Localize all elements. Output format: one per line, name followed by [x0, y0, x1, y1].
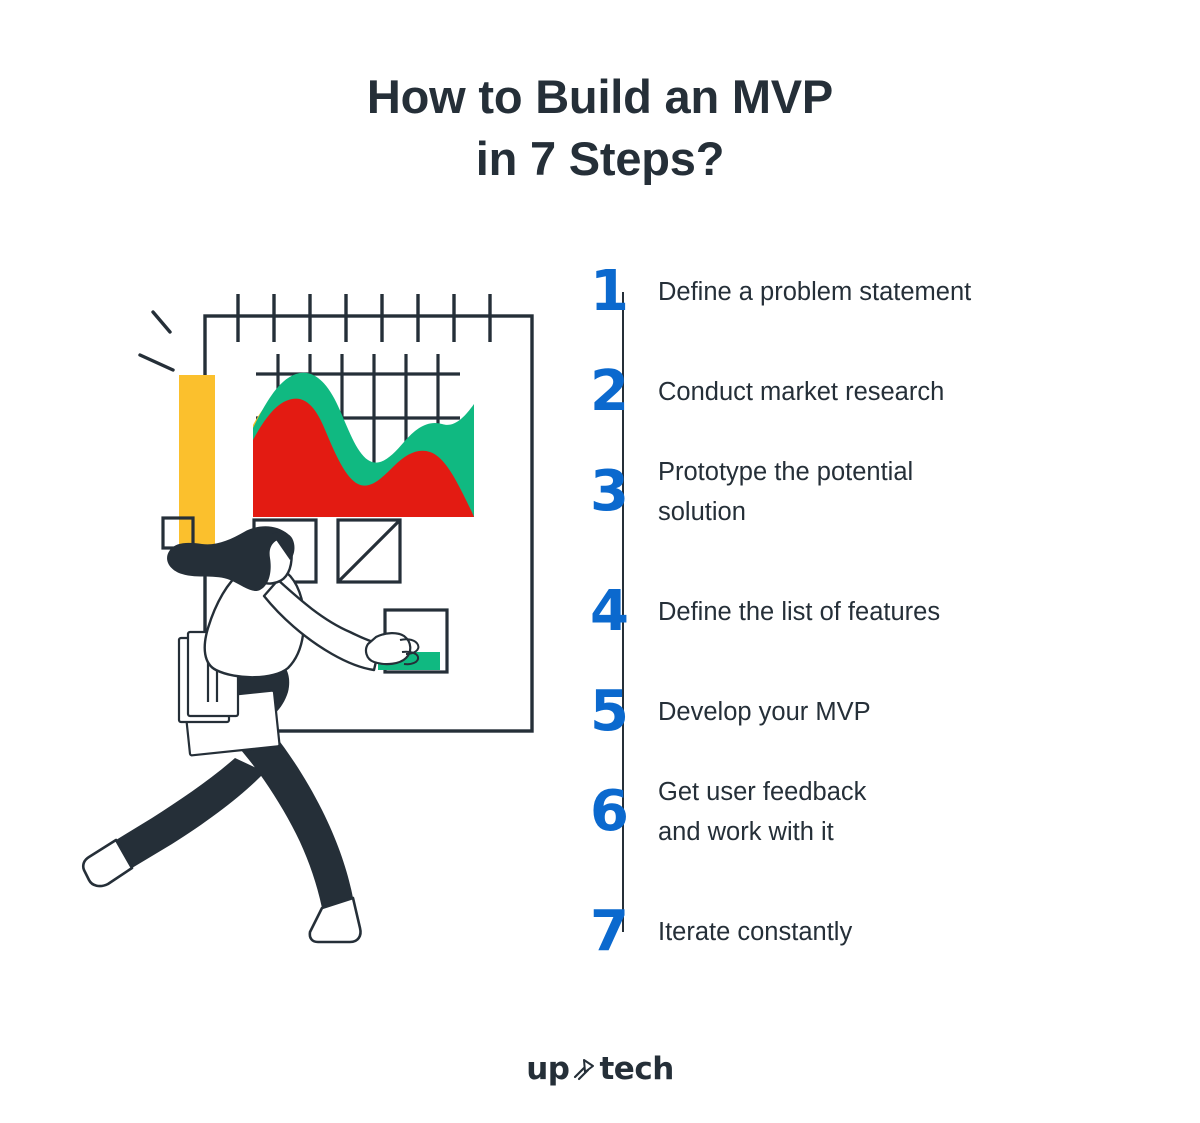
infographic-page: How to Build an MVP in 7 Steps?: [0, 0, 1200, 1123]
walking-person: [83, 526, 418, 942]
illustration-person-whiteboard: [60, 280, 580, 970]
step-item-1[interactable]: 1 Define a problem statement: [590, 264, 1150, 320]
step-label-1: Define a problem statement: [658, 272, 971, 312]
step-item-5[interactable]: 5 Develop your MVP: [590, 684, 1150, 740]
person-shoe-front: [310, 898, 361, 942]
person-leg-back: [116, 758, 265, 868]
logo-text-tech: tech: [599, 1052, 673, 1086]
step-label-2: Conduct market research: [658, 372, 944, 412]
motion-lines-icon: [140, 312, 173, 370]
step-item-3[interactable]: 3 Prototype the potential solution: [590, 452, 1150, 532]
step-number-6: 6: [590, 784, 658, 840]
logo-text-up: up: [526, 1052, 569, 1086]
step-item-2[interactable]: 2 Conduct market research: [590, 364, 1150, 420]
step-label-4: Define the list of features: [658, 592, 940, 632]
step-item-6[interactable]: 6 Get user feedback and work with it: [590, 772, 1150, 852]
step-label-7: Iterate constantly: [658, 912, 852, 952]
page-title-line-1: How to Build an MVP: [0, 66, 1200, 128]
step-item-7[interactable]: 7 Iterate constantly: [590, 904, 1150, 960]
steps-list: 1 Define a problem statement 2 Conduct m…: [590, 252, 1150, 962]
step-item-4[interactable]: 4 Define the list of features: [590, 584, 1150, 640]
top-tick-marks-icon: [238, 294, 490, 342]
step-number-1: 1: [590, 264, 658, 320]
square-diagonal: [338, 520, 400, 582]
step-label-5: Develop your MVP: [658, 692, 871, 732]
arrow-mark-icon: [571, 1055, 597, 1085]
page-title-line-2: in 7 Steps?: [0, 128, 1200, 190]
step-number-7: 7: [590, 904, 658, 960]
brand-logo[interactable]: up tech: [0, 1052, 1200, 1086]
step-label-3: Prototype the potential solution: [658, 452, 913, 532]
step-number-2: 2: [590, 364, 658, 420]
step-number-3: 3: [590, 464, 658, 520]
step-number-4: 4: [590, 584, 658, 640]
step-label-6: Get user feedback and work with it: [658, 772, 866, 852]
step-number-5: 5: [590, 684, 658, 740]
page-title: How to Build an MVP in 7 Steps?: [0, 66, 1200, 190]
